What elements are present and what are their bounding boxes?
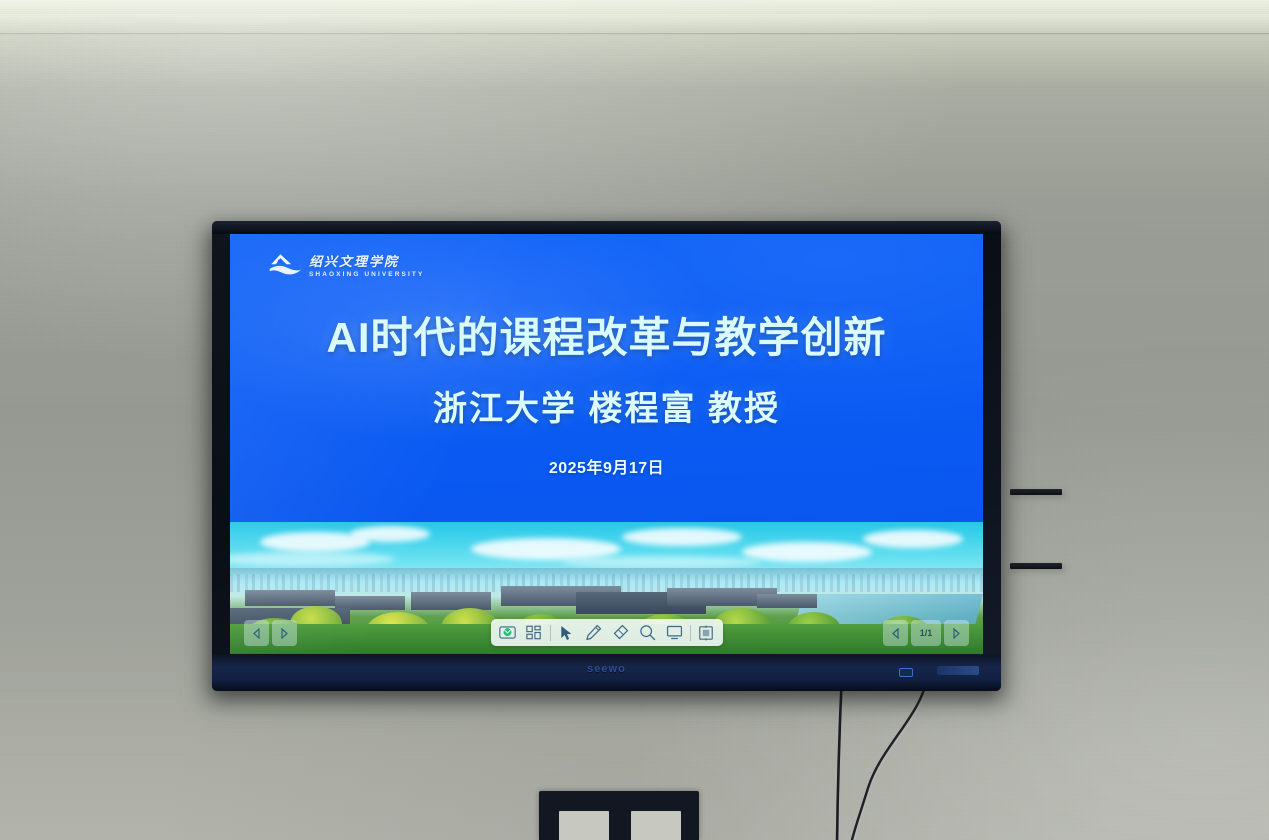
tv-chassis: 绍兴文理学院 SHAOXING UNIVERSITY AI时代的课程改革与教学创… <box>212 221 1001 691</box>
wall-bracket-lower <box>1010 563 1062 569</box>
tv-screen[interactable]: 绍兴文理学院 SHAOXING UNIVERSITY AI时代的课程改革与教学创… <box>230 234 983 654</box>
slide-text-block: AI时代的课程改革与教学创新 浙江大学 楼程富 教授 2025年9月17日 <box>230 312 983 478</box>
tv-top-bezel <box>212 221 1001 234</box>
wall-bracket-upper <box>1010 489 1062 495</box>
campus-photo: 1/1 <box>230 522 983 654</box>
campus-building <box>245 590 335 606</box>
wall-top-light-strip <box>0 0 1269 14</box>
university-logo: 绍兴文理学院 SHAOXING UNIVERSITY <box>268 251 424 278</box>
mail-icon[interactable] <box>494 621 521 644</box>
toolbar-divider <box>690 625 691 641</box>
cursor-icon[interactable] <box>553 621 580 644</box>
nav-next-button[interactable] <box>944 620 969 646</box>
wall-outlet-plate <box>539 791 699 840</box>
ir-sensor-strip <box>937 666 979 675</box>
outlet-socket-right <box>631 811 681 840</box>
apps-grid-icon[interactable] <box>521 621 548 644</box>
eraser-icon[interactable] <box>607 621 634 644</box>
power-led-icon[interactable] <box>899 668 913 677</box>
page-indicator: 1/1 <box>911 620 941 646</box>
nav-right-group[interactable]: 1/1 <box>883 620 969 646</box>
screen-icon[interactable] <box>661 621 688 644</box>
toolbar-divider <box>550 625 551 641</box>
search-icon[interactable] <box>634 621 661 644</box>
logo-english-name: SHAOXING UNIVERSITY <box>309 271 424 278</box>
logo-wordmark: 绍兴文理学院 SHAOXING UNIVERSITY <box>309 251 424 278</box>
campus-building <box>411 592 491 610</box>
pen-icon[interactable] <box>580 621 607 644</box>
logo-chinese-name: 绍兴文理学院 <box>309 251 424 270</box>
nav-next-button-left[interactable] <box>272 620 297 646</box>
nav-left-group[interactable] <box>244 620 297 646</box>
slide-title: AI时代的课程改革与教学创新 <box>326 312 886 363</box>
annotation-toolbar[interactable] <box>491 619 723 646</box>
wall-seam-line <box>0 33 1269 35</box>
tv-bottom-bezel: seewo <box>212 655 1001 691</box>
tv-brand-logo: seewo <box>587 663 626 675</box>
slide-subtitle: 浙江大学 楼程富 教授 <box>433 381 780 430</box>
outlet-socket-left <box>559 811 609 840</box>
campus-building <box>757 594 817 608</box>
nav-prev-button[interactable] <box>244 620 269 646</box>
mountain-wave-emblem-icon <box>268 252 302 278</box>
nav-prev-button-right[interactable] <box>883 620 908 646</box>
annotate-icon[interactable] <box>693 621 720 644</box>
slide-date: 2025年9月17日 <box>549 454 664 478</box>
interactive-flat-panel[interactable]: 绍兴文理学院 SHAOXING UNIVERSITY AI时代的课程改革与教学创… <box>212 221 1001 691</box>
